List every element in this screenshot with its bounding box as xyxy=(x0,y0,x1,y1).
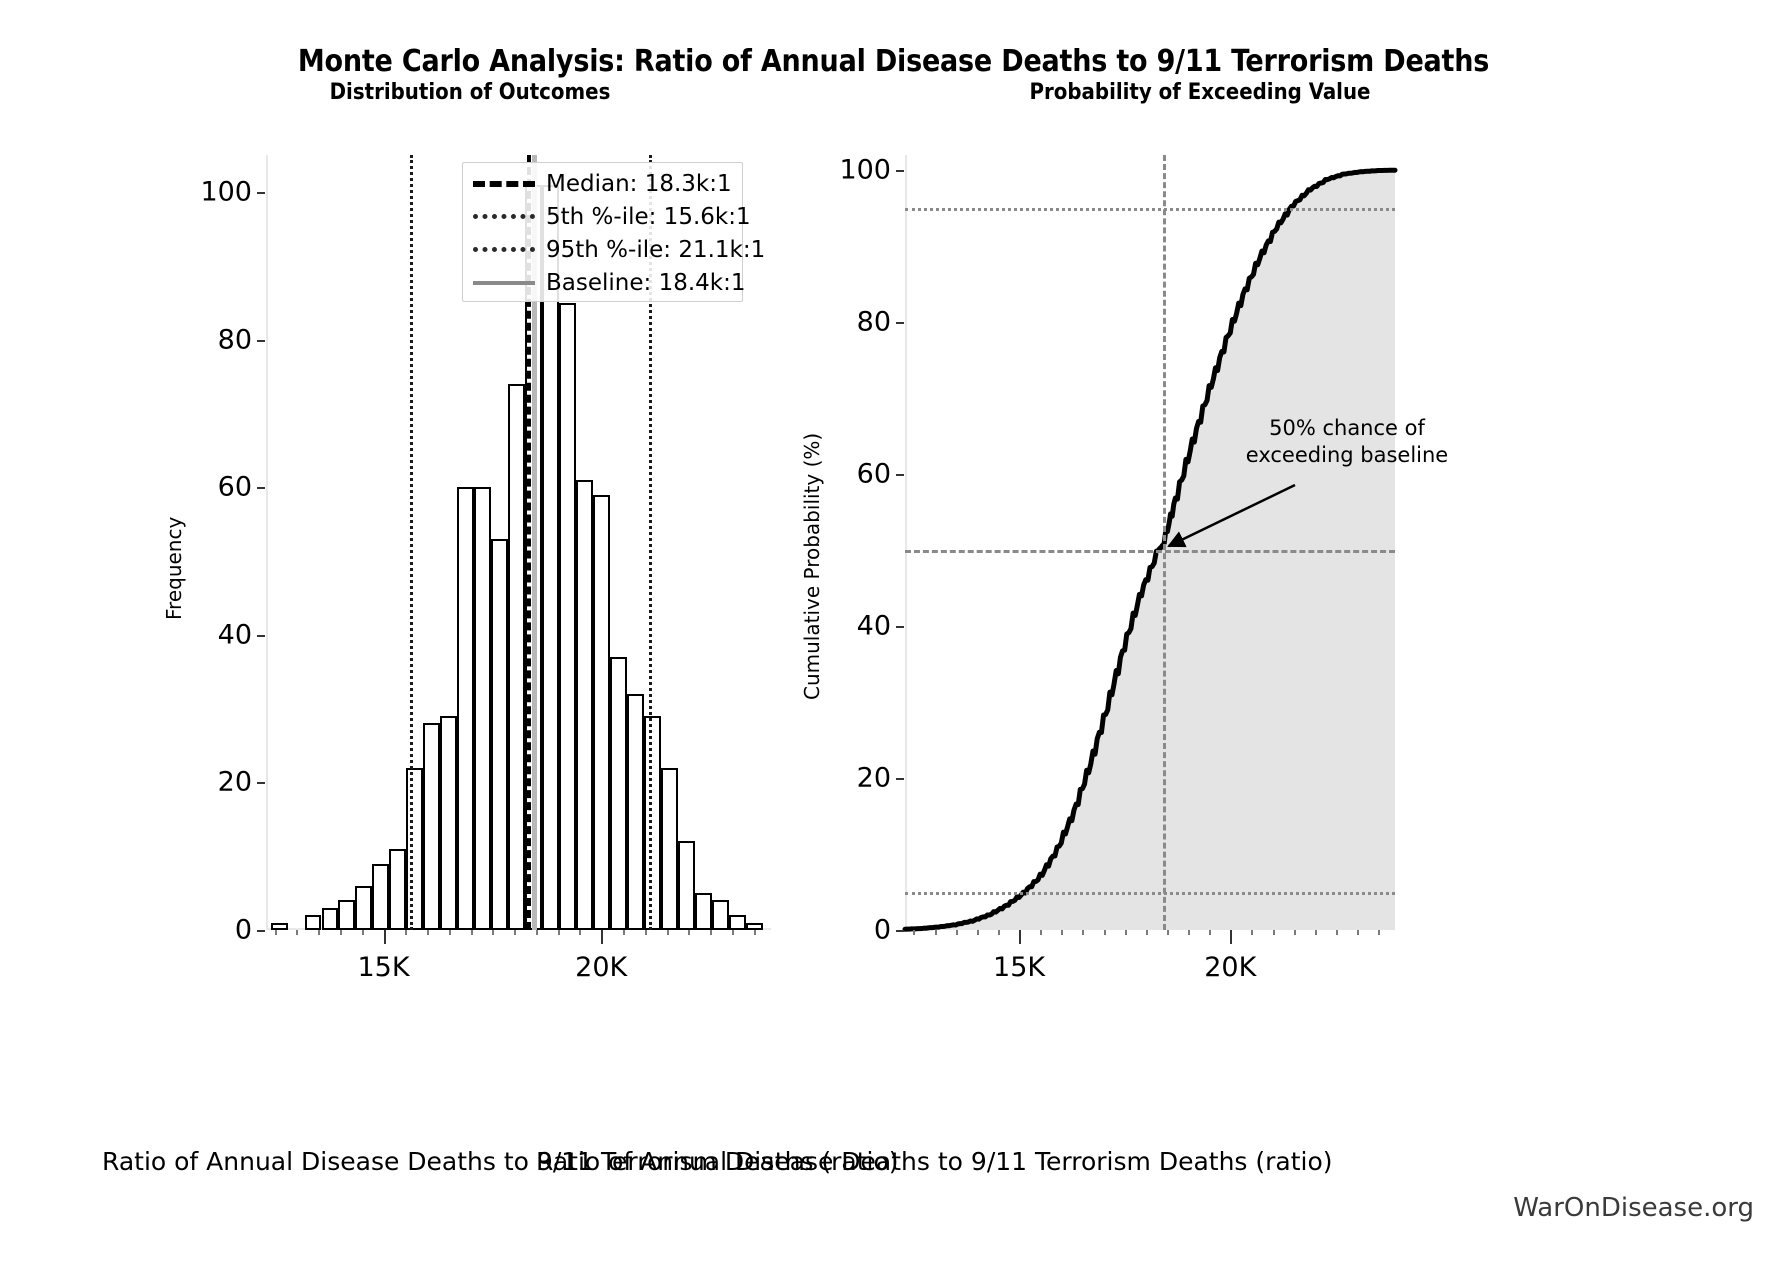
x-tick-minor xyxy=(956,930,958,935)
legend-item: Median: 18.3k:1 xyxy=(463,167,742,200)
y-tick-mark xyxy=(257,487,265,489)
cdf-x-axis-label: Ratio of Annual Disease Deaths to 9/11 T… xyxy=(536,1147,1333,1176)
x-tick-mark xyxy=(1019,930,1021,944)
x-tick-minor xyxy=(449,930,451,935)
x-tick-minor xyxy=(913,930,915,935)
y-tick-label: 0 xyxy=(235,915,252,946)
histogram-bar xyxy=(457,487,474,930)
x-tick-minor xyxy=(1040,930,1042,935)
cdf-y-axis-label: Cumulative Probability (%) xyxy=(800,433,824,700)
x-tick-minor xyxy=(645,930,647,935)
x-tick-minor xyxy=(710,930,712,935)
footer-attribution: WarOnDisease.org xyxy=(1513,1193,1754,1223)
y-tick-mark xyxy=(257,782,265,784)
legend-key-dotted-dark-line xyxy=(473,214,535,219)
histogram-bar xyxy=(338,900,355,930)
y-tick-label: 0 xyxy=(874,915,891,946)
y-tick-mark xyxy=(257,635,265,637)
histogram-bar xyxy=(559,303,576,930)
x-tick-minor xyxy=(623,930,625,935)
histogram-bar xyxy=(322,908,339,930)
x-tick-minor xyxy=(340,930,342,935)
x-tick-minor xyxy=(558,930,560,935)
histogram-bar xyxy=(491,539,508,930)
legend-label: 5th %-ile: 15.6k:1 xyxy=(546,204,751,230)
histogram-bar xyxy=(695,893,712,930)
y-tick-label: 80 xyxy=(857,307,891,338)
x-tick-minor xyxy=(1336,930,1338,935)
legend-label: Median: 18.3k:1 xyxy=(546,171,732,197)
y-tick-mark xyxy=(896,474,904,476)
legend-key-dotted-dark-line xyxy=(473,247,535,252)
x-tick-minor xyxy=(471,930,473,935)
x-tick-minor xyxy=(536,930,538,935)
legend-key-dashed-black-line xyxy=(473,181,535,187)
x-tick-minor xyxy=(318,930,320,935)
y-tick-label: 80 xyxy=(218,324,252,355)
histogram-bar xyxy=(508,384,525,930)
x-tick-mark xyxy=(1230,930,1232,944)
x-tick-mark xyxy=(384,930,386,944)
x-tick-label: 15K xyxy=(993,952,1045,983)
y-tick-label: 20 xyxy=(218,767,252,798)
x-tick-minor xyxy=(427,930,429,935)
histogram-bar xyxy=(661,768,678,930)
x-tick-minor xyxy=(296,930,298,935)
histogram-bar xyxy=(271,923,288,930)
x-tick-minor xyxy=(1061,930,1063,935)
y-tick-mark xyxy=(896,930,904,932)
x-tick-minor xyxy=(1315,930,1317,935)
x-tick-minor xyxy=(1209,930,1211,935)
legend-label: 95th %-ile: 21.1k:1 xyxy=(546,237,765,263)
x-tick-minor xyxy=(1273,930,1275,935)
y-tick-label: 100 xyxy=(200,176,252,207)
histogram-bar xyxy=(305,915,322,930)
x-tick-minor xyxy=(1378,930,1380,935)
y-tick-label: 40 xyxy=(857,611,891,642)
x-tick-minor xyxy=(977,930,979,935)
y-tick-label: 20 xyxy=(857,763,891,794)
y-tick-mark xyxy=(896,778,904,780)
histogram-bar xyxy=(440,716,457,930)
x-tick-minor xyxy=(405,930,407,935)
x-tick-minor xyxy=(754,930,756,935)
x-tick-minor xyxy=(1251,930,1253,935)
histogram-bar xyxy=(746,923,763,930)
histogram-bar xyxy=(372,864,389,930)
x-tick-minor xyxy=(1167,930,1169,935)
y-tick-label: 60 xyxy=(218,472,252,503)
x-tick-minor xyxy=(275,930,277,935)
histogram-y-axis-label: Frequency xyxy=(162,517,186,620)
y-tick-mark xyxy=(896,170,904,172)
histogram-bar xyxy=(627,694,644,930)
x-tick-minor xyxy=(732,930,734,935)
x-tick-minor xyxy=(1188,930,1190,935)
x-tick-label: 20K xyxy=(1204,952,1256,983)
y-tick-mark xyxy=(257,192,265,194)
y-tick-label: 100 xyxy=(839,155,891,186)
right-subplot-title: Probability of Exceeding Value xyxy=(890,80,1510,105)
x-tick-minor xyxy=(935,930,937,935)
histogram-bar xyxy=(729,915,746,930)
histogram-bar xyxy=(389,849,406,930)
legend-item: Baseline: 18.4k:1 xyxy=(463,266,742,299)
histogram-bar xyxy=(593,495,610,930)
x-tick-minor xyxy=(1146,930,1148,935)
y-tick-label: 60 xyxy=(857,459,891,490)
x-tick-minor xyxy=(1082,930,1084,935)
figure-title: Monte Carlo Analysis: Ratio of Annual Di… xyxy=(0,44,1787,79)
x-tick-mark xyxy=(601,930,603,944)
x-tick-minor xyxy=(492,930,494,935)
x-tick-minor xyxy=(1125,930,1127,935)
x-tick-minor xyxy=(1104,930,1106,935)
legend-item: 5th %-ile: 15.6k:1 xyxy=(463,200,742,233)
y-tick-mark xyxy=(896,322,904,324)
x-tick-minor xyxy=(998,930,1000,935)
x-tick-label: 20K xyxy=(575,952,627,983)
histogram-bar xyxy=(423,723,440,930)
y-tick-mark xyxy=(257,930,265,932)
y-tick-mark xyxy=(257,340,265,342)
x-tick-minor xyxy=(688,930,690,935)
histogram-bar xyxy=(712,900,729,930)
histogram-bar xyxy=(355,886,372,930)
histogram-bar xyxy=(474,487,491,930)
legend-key-solid-gray-line xyxy=(473,281,535,285)
figure: Monte Carlo Analysis: Ratio of Annual Di… xyxy=(0,0,1787,1280)
legend: Median: 18.3k:15th %-ile: 15.6k:195th %-… xyxy=(462,162,743,302)
legend-label: Baseline: 18.4k:1 xyxy=(546,270,746,296)
left-subplot-title: Distribution of Outcomes xyxy=(160,80,780,105)
histogram-bar xyxy=(644,716,661,930)
histogram-bar xyxy=(678,841,695,930)
reference-line-5th-percentile-level xyxy=(905,892,1395,895)
legend-item: 95th %-ile: 21.1k:1 xyxy=(463,233,742,266)
y-tick-label: 40 xyxy=(218,619,252,650)
histogram-bar xyxy=(610,657,627,930)
histogram-bar xyxy=(576,480,593,930)
y-tick-mark xyxy=(896,626,904,628)
annotation-arrow xyxy=(905,155,1465,715)
x-tick-minor xyxy=(1357,930,1359,935)
x-tick-minor xyxy=(667,930,669,935)
x-tick-minor xyxy=(1294,930,1296,935)
x-tick-minor xyxy=(514,930,516,935)
x-tick-minor xyxy=(579,930,581,935)
x-tick-minor xyxy=(362,930,364,935)
x-tick-label: 15K xyxy=(358,952,410,983)
reference-line-5th-percentile xyxy=(410,155,413,930)
